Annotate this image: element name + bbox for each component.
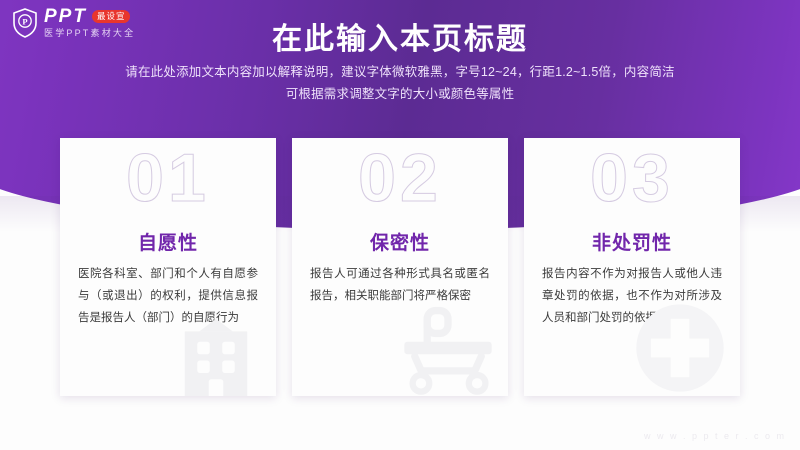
card-heading-3: 非处罚性 (524, 228, 740, 255)
site-watermark: w w w . p p t e r . c o m (644, 431, 786, 441)
card-body-2: 报告人可通过各种形式具名或匿名报告，相关职能部门将严格保密 (310, 263, 490, 307)
card-heading-1: 自愿性 (60, 228, 276, 255)
card-body-3: 报告内容不作为对报告人或他人违章处罚的依据，也不作为对所涉及人员和部门处罚的依据 (542, 263, 722, 329)
card-number-1: 01 (60, 144, 276, 212)
card-list: 01 自愿性 医院各科室、部门和个人有自愿参与（或退出）的权利，提供信息报告是报… (60, 138, 740, 396)
card-heading-2: 保密性 (292, 228, 508, 255)
page-title: 在此输入本页标题 (0, 14, 800, 58)
subtitle-line-2: 可根据需求调整文字的大小或颜色等属性 (0, 84, 800, 106)
slide-root: P PPT 最设宣 医学PPT素材大全 在此输入本页标题 请在此处添加文本内容加… (0, 0, 800, 450)
card-body-1: 医院各科室、部门和个人有自愿参与（或退出）的权利，提供信息报告是报告人（部门）的… (78, 263, 258, 329)
card-number-2: 02 (292, 144, 508, 212)
content-card-3[interactable]: 03 非处罚性 报告内容不作为对报告人或他人违章处罚的依据，也不作为对所涉及人员… (524, 138, 740, 396)
content-card-2[interactable]: 02 保密性 报告人可通过各种形式具名或匿名报告，相关职能部门将严格保密 (292, 138, 508, 396)
subtitle-line-1: 请在此处添加文本内容加以解释说明，建议字体微软雅黑，字号12~24，行距1.2~… (0, 62, 800, 84)
hospital-stretcher-icon (396, 296, 500, 396)
content-card-1[interactable]: 01 自愿性 医院各科室、部门和个人有自愿参与（或退出）的权利，提供信息报告是报… (60, 138, 276, 396)
page-subtitle: 请在此处添加文本内容加以解释说明，建议字体微软雅黑，字号12~24，行距1.2~… (0, 62, 800, 106)
card-number-3: 03 (524, 144, 740, 212)
